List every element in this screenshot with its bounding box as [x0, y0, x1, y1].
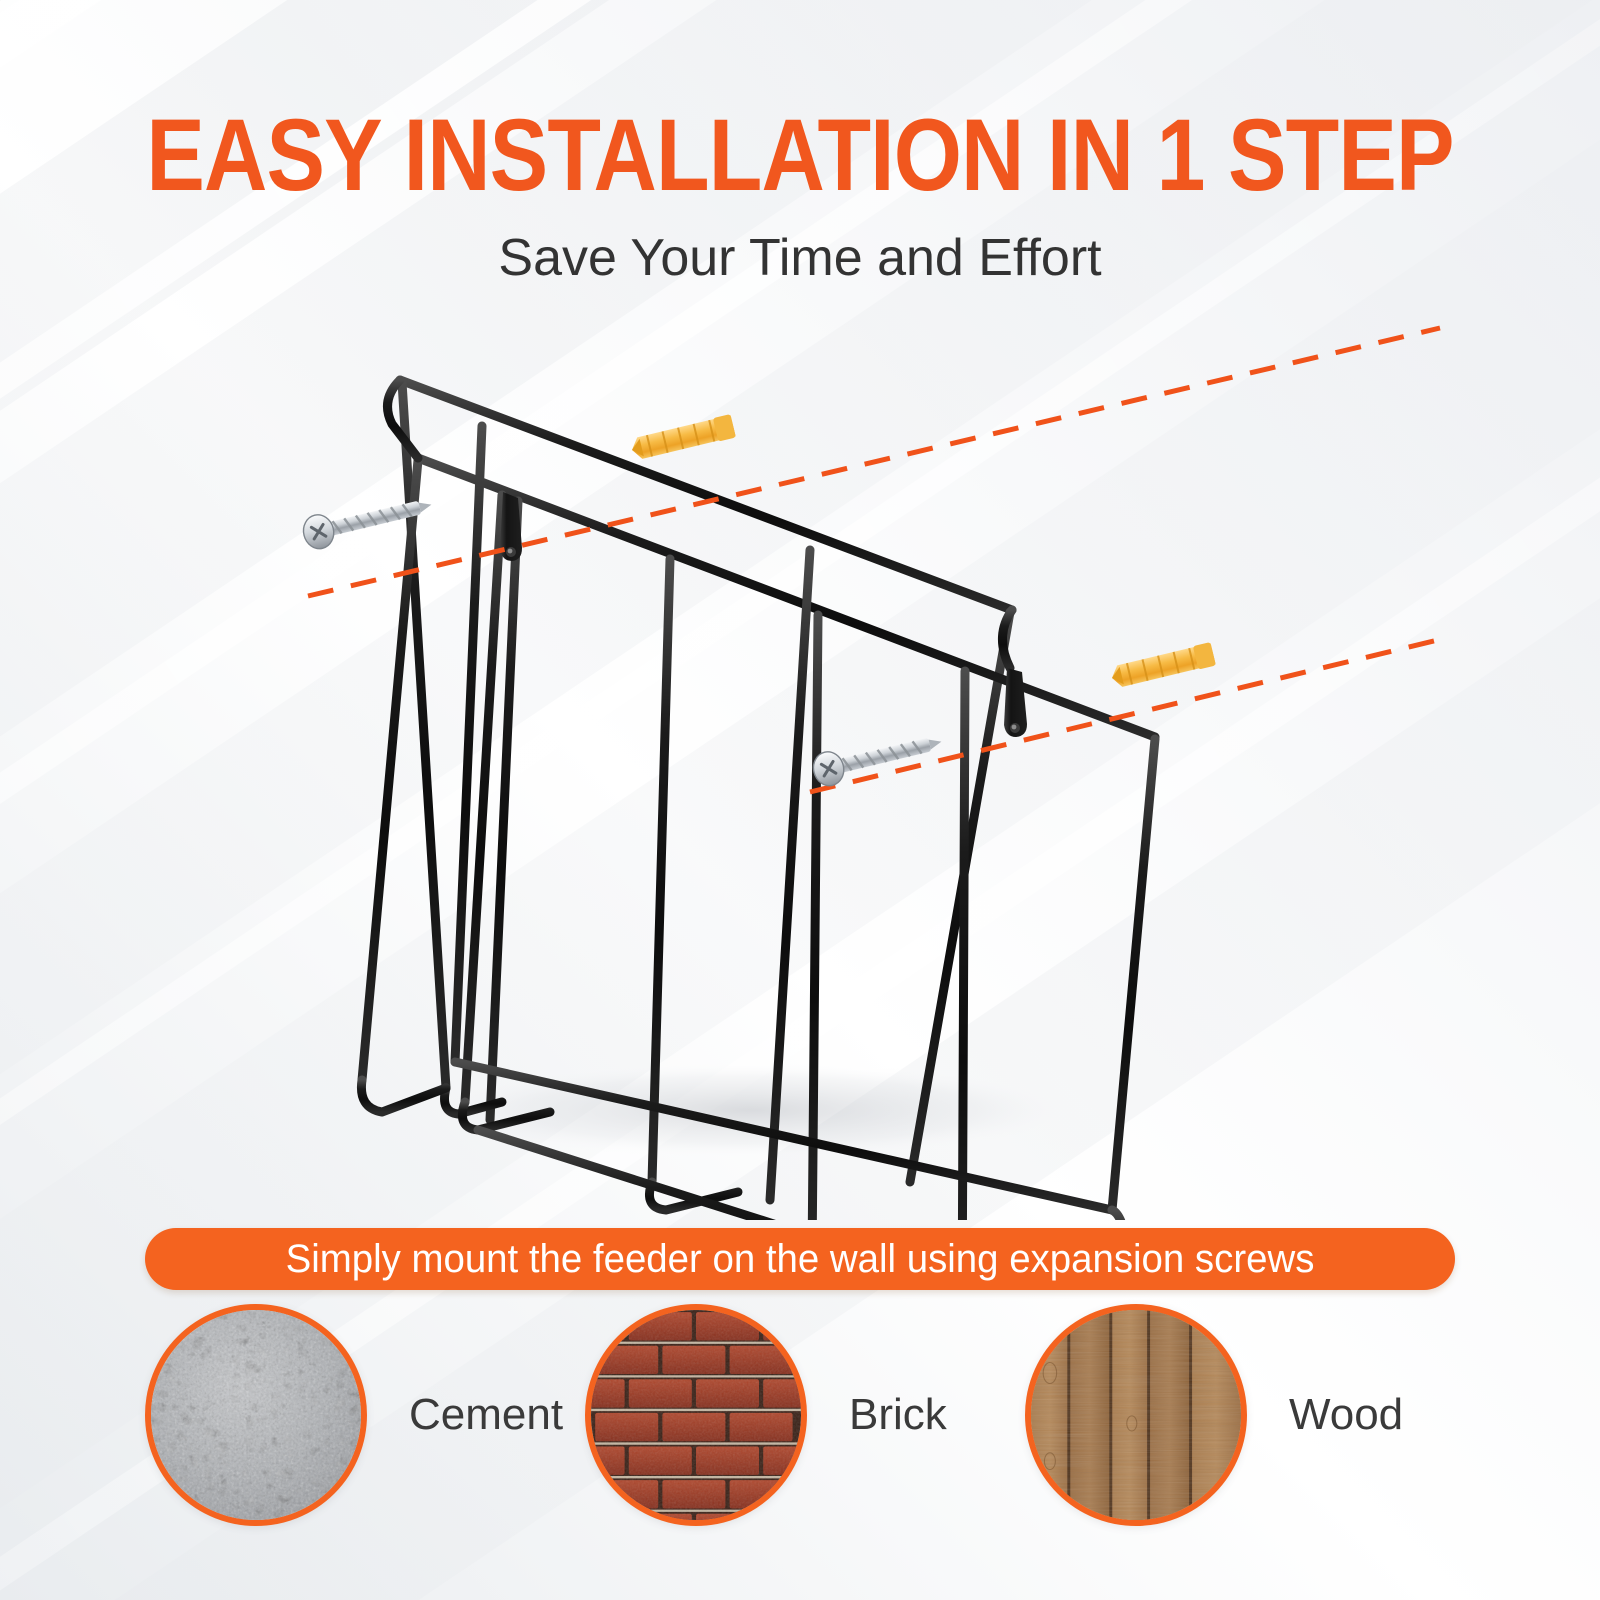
back-top-rail — [400, 380, 1012, 610]
wood-texture-swatch — [1025, 1304, 1247, 1526]
poster-canvas: EASY INSTALLATION IN 1 STEP Save Your Ti… — [0, 0, 1600, 1600]
material-label-wood: Wood — [1289, 1393, 1403, 1437]
alignment-guide-lower — [810, 638, 1446, 792]
bottom-right-corner — [1112, 1210, 1128, 1220]
back-strut-1 — [455, 426, 482, 1062]
page-headline: EASY INSTALLATION IN 1 STEP — [112, 104, 1488, 206]
material-label-cement: Cement — [409, 1393, 563, 1437]
strut-4 — [812, 615, 818, 1220]
front-right-upright — [1112, 739, 1155, 1210]
phillips-screw-icon-lower — [810, 725, 945, 789]
front-left-upright — [362, 460, 418, 1080]
material-item-wood: Wood — [1025, 1300, 1465, 1530]
material-item-cement: Cement — [145, 1300, 585, 1530]
wall-anchor-icon-upper — [629, 414, 736, 462]
mount-hook-lower — [1004, 668, 1027, 737]
material-item-brick: Brick — [585, 1300, 1025, 1530]
back-left-upright — [402, 382, 446, 1088]
instruction-banner-label: Simply mount the feeder on the wall usin… — [171, 1228, 1429, 1290]
instruction-banner: Simply mount the feeder on the wall usin… — [145, 1228, 1455, 1290]
brick-texture-swatch — [585, 1304, 807, 1526]
front-top-rail — [418, 458, 1155, 737]
page-subheadline: Save Your Time and Effort — [0, 232, 1600, 284]
material-label-brick: Brick — [849, 1393, 947, 1437]
cement-texture-swatch — [145, 1304, 367, 1526]
wall-anchor-icon-lower — [1109, 642, 1216, 690]
product-illustration — [250, 320, 1450, 1220]
material-list: Cement — [145, 1300, 1465, 1530]
